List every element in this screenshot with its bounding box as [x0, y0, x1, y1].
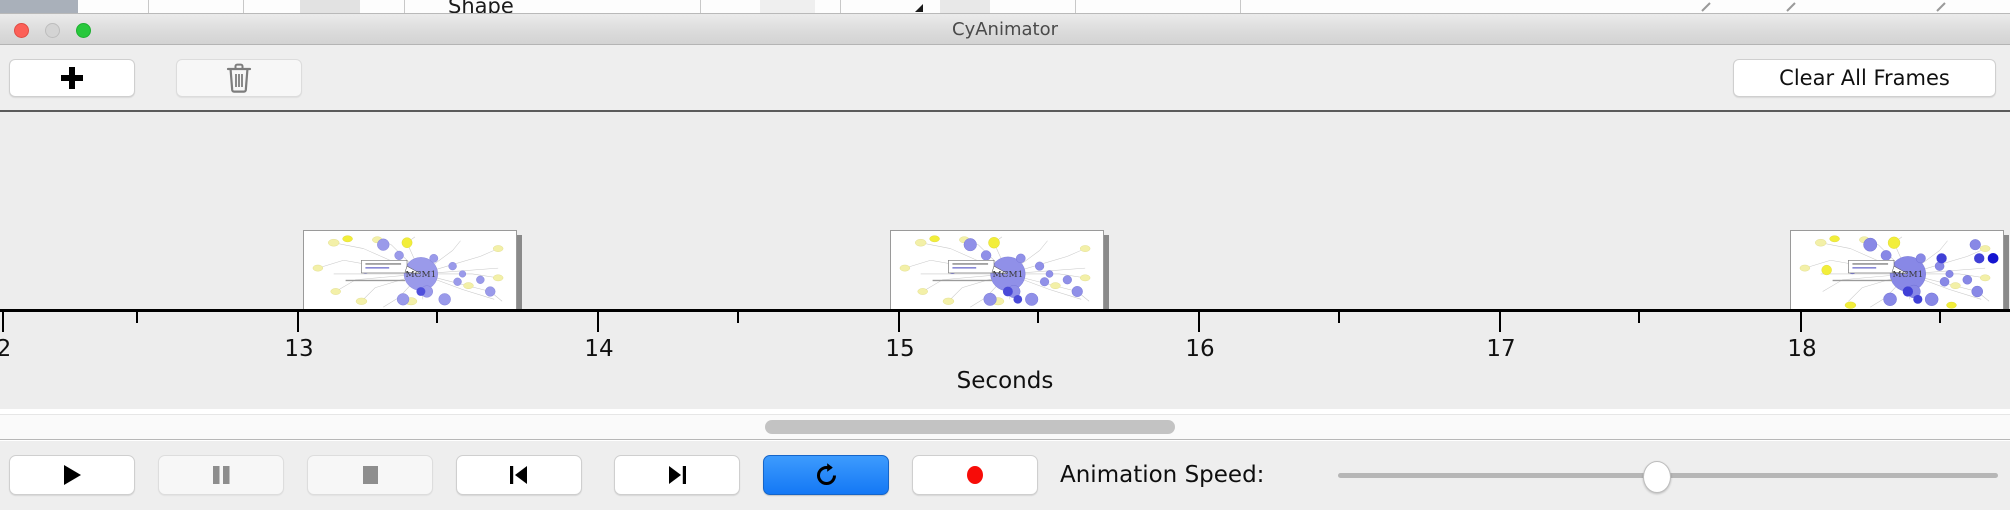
clear-all-frames-button[interactable]: Clear All Frames [1733, 59, 1996, 97]
ruler-tick-label: 17 [1471, 336, 1531, 362]
horizontal-scrollbar[interactable] [0, 414, 2010, 440]
window-title: CyAnimator [0, 14, 2010, 45]
pause-icon [208, 462, 234, 488]
ruler-tick-major [2, 312, 4, 332]
background-divider [148, 0, 149, 14]
skip-back-icon [506, 462, 532, 488]
frame-thumbnail: MCM1 [303, 230, 517, 309]
timeline-ruler[interactable]: 2131415161718 Seconds [0, 309, 2010, 409]
network-graph-icon: MCM1 [1791, 231, 2003, 309]
background-divider [404, 0, 405, 14]
svg-text:MCM1: MCM1 [406, 270, 437, 280]
ruler-tick-major [597, 312, 599, 332]
background-divider [700, 0, 701, 14]
loop-button[interactable] [763, 455, 889, 495]
slider-thumb[interactable] [1643, 461, 1671, 493]
ruler-tick-minor [1638, 312, 1640, 323]
svg-text:MCM1: MCM1 [1893, 270, 1924, 280]
delete-frame-button[interactable] [176, 59, 302, 97]
ruler-tick-minor [737, 312, 739, 323]
pause-button[interactable] [158, 455, 284, 495]
ruler-tick-major [898, 312, 900, 332]
clear-all-frames-label: Clear All Frames [1779, 66, 1950, 90]
ruler-tick-label: 2 [0, 336, 34, 362]
skip-forward-icon [664, 462, 690, 488]
play-button[interactable] [9, 455, 135, 495]
stop-icon [357, 462, 383, 488]
ruler-tick-label: 15 [870, 336, 930, 362]
background-divider [243, 0, 244, 14]
record-button[interactable] [912, 455, 1038, 495]
ruler-tick-major [1499, 312, 1501, 332]
background-titlebar-fragment [0, 0, 78, 13]
playback-control-bar: Animation Speed: [0, 441, 2010, 510]
background-toolbar-chip [940, 0, 990, 14]
frame-thumbnail: MCM1 [1790, 230, 2004, 309]
ruler-tick-minor [1939, 312, 1941, 323]
ruler-baseline [0, 309, 2010, 312]
sort-arrow-icon [914, 1, 928, 13]
cyanimator-window: Shape CyAnimator Clear All Frames [0, 0, 2010, 510]
ruler-tick-minor [1037, 312, 1039, 323]
ruler-tick-minor [436, 312, 438, 323]
scrollbar-thumb[interactable] [765, 420, 1175, 434]
stop-button[interactable] [307, 455, 433, 495]
background-label-shape: Shape [448, 0, 514, 14]
record-icon [962, 462, 988, 488]
ruler-axis-title: Seconds [0, 368, 2010, 394]
toolbar: Clear All Frames [0, 45, 2010, 112]
animation-speed-slider[interactable] [1338, 455, 1998, 495]
background-toolbar-chip [760, 0, 815, 14]
ruler-tick-label: 14 [569, 336, 629, 362]
loop-icon [813, 462, 840, 489]
add-frame-button[interactable] [9, 59, 135, 97]
title-bar: CyAnimator [0, 14, 2010, 45]
ruler-tick-label: 13 [269, 336, 329, 362]
resize-handle-icon [1935, 1, 1949, 13]
ruler-tick-label: 16 [1170, 336, 1230, 362]
ruler-tick-major [1198, 312, 1200, 332]
background-divider [1075, 0, 1076, 14]
frame-thumbnail: MCM1 [890, 230, 1104, 309]
skip-to-end-button[interactable] [614, 455, 740, 495]
plus-icon [61, 67, 83, 89]
background-window-strip: Shape [0, 0, 2010, 14]
ruler-tick-major [1800, 312, 1802, 332]
network-graph-icon: MCM1 [304, 231, 516, 309]
network-graph-icon: MCM1 [891, 231, 1103, 309]
resize-handle-icon [1785, 1, 1799, 13]
background-divider [840, 0, 841, 14]
ruler-tick-major [297, 312, 299, 332]
ruler-tick-label: 18 [1772, 336, 1832, 362]
play-icon [59, 462, 85, 488]
animation-speed-label: Animation Speed: [1060, 455, 1264, 495]
timeline-panel[interactable]: MCM1 [0, 112, 2010, 309]
background-toolbar-chip [300, 0, 360, 14]
ruler-tick-minor [136, 312, 138, 323]
background-divider [1240, 0, 1241, 14]
ruler-tick-minor [1338, 312, 1340, 323]
svg-text:MCM1: MCM1 [993, 270, 1024, 280]
resize-handle-icon [1700, 1, 1714, 13]
skip-to-start-button[interactable] [456, 455, 582, 495]
trash-icon [226, 63, 252, 93]
